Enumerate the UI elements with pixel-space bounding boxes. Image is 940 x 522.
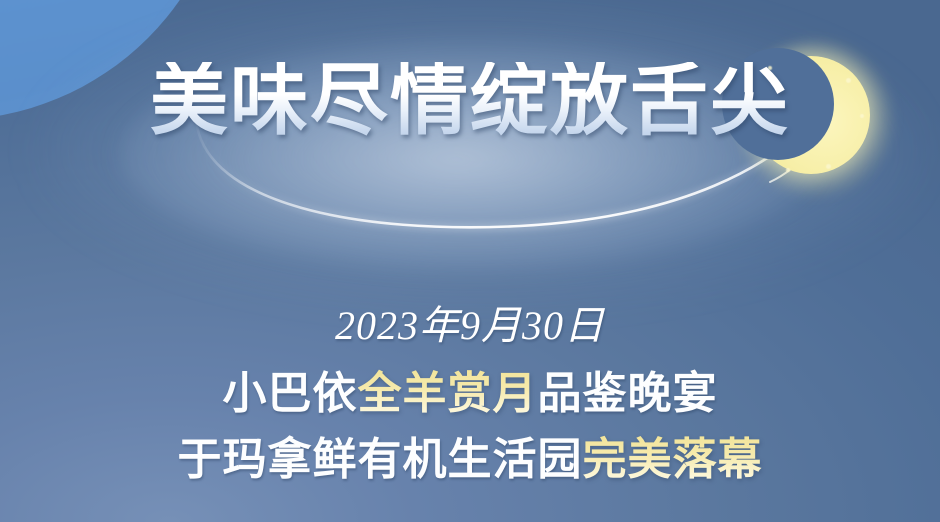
event-name-line: 小巴依全羊赏月品鉴晚宴 (0, 365, 940, 423)
event-name-highlight: 全羊赏月 (358, 369, 538, 418)
page-title: 美味尽情绽放舌尖 (0, 62, 940, 140)
event-date: 2023年9月30日 (0, 300, 940, 353)
poster-canvas: 美味尽情绽放舌尖 2023年9月30日 小巴依全羊赏月品鉴晚宴 于玛拿鲜有机生活… (0, 0, 940, 522)
moon-sparkle-3 (826, 164, 831, 169)
event-venue-part-1: 于玛拿鲜有机生活园 (178, 435, 583, 484)
event-name-part-2: 品鉴晚宴 (538, 369, 718, 418)
event-venue-highlight: 完美落幕 (583, 435, 763, 484)
event-venue-line: 于玛拿鲜有机生活园完美落幕 (0, 431, 940, 489)
event-info-block: 2023年9月30日 小巴依全羊赏月品鉴晚宴 于玛拿鲜有机生活园完美落幕 (0, 300, 940, 497)
moon-sparkle-4 (786, 168, 790, 172)
event-name-part-1: 小巴依 (223, 369, 358, 418)
